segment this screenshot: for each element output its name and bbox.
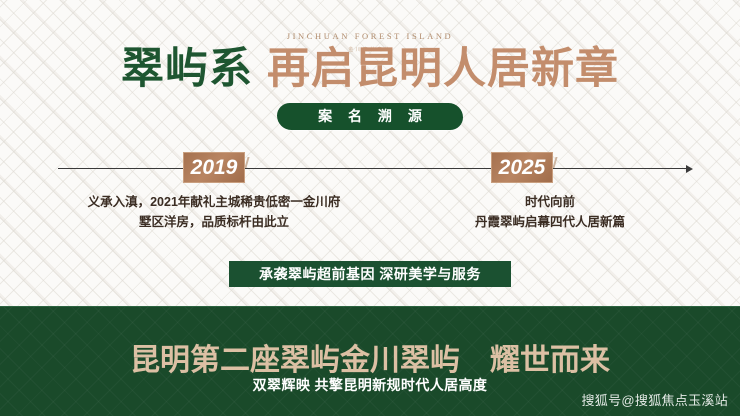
page-title-main: 再启昆明人居新章 — [267, 46, 619, 93]
timeline-caption-line: 丹霞翠屿启幕四代人居新篇 — [400, 212, 700, 232]
poster-canvas: JINCHUAN FOREST ISLAND 金川森林岛屿 翠屿系再启昆明人居新… — [0, 0, 740, 416]
timeline-axis-line — [58, 168, 690, 169]
mid-banner: 承袭翠屿超前基因 深研美学与服务 — [229, 261, 511, 287]
timeline-caption-line: 义承入滇，2021年献礼主城稀贵低密一金川府 — [38, 192, 390, 212]
section-tag-banner: 案 名 溯 源 — [277, 103, 463, 130]
section-tag-label: 案 名 溯 源 — [277, 103, 463, 130]
timeline: 2019 2025 — [0, 152, 740, 186]
page-title: 翠屿系再启昆明人居新章 — [0, 48, 740, 91]
timeline-caption-2025: 时代向前 丹霞翠屿启幕四代人居新篇 — [400, 192, 700, 232]
timeline-caption-line: 时代向前 — [400, 192, 700, 212]
timeline-year-label: 2019 — [184, 153, 244, 182]
timeline-caption-2019: 义承入滇，2021年献礼主城稀贵低密一金川府 墅区洋房，品质标杆由此立 — [38, 192, 390, 232]
timeline-arrow-icon — [686, 165, 693, 173]
timeline-tick-icon — [244, 157, 249, 168]
timeline-caption-line: 墅区洋房，品质标杆由此立 — [38, 212, 390, 232]
timeline-year-label: 2025 — [492, 153, 552, 182]
watermark-label: 搜狐号@搜狐焦点玉溪站 — [582, 390, 729, 409]
timeline-badge-2025: 2025 — [491, 152, 553, 183]
footer-block: 昆明第二座翠屿金川翠屿 耀世而来 双翠辉映 共擎昆明新规时代人居高度 搜狐号@搜… — [0, 306, 740, 416]
page-title-highlight: 翠屿系 — [121, 46, 253, 93]
footer-title: 昆明第二座翠屿金川翠屿 耀世而来 — [0, 335, 740, 379]
mid-banner-label: 承袭翠屿超前基因 深研美学与服务 — [229, 261, 511, 287]
timeline-badge-2019: 2019 — [183, 152, 245, 183]
brand-english-name: JINCHUAN FOREST ISLAND — [287, 31, 454, 41]
timeline-tick-icon — [552, 157, 557, 168]
